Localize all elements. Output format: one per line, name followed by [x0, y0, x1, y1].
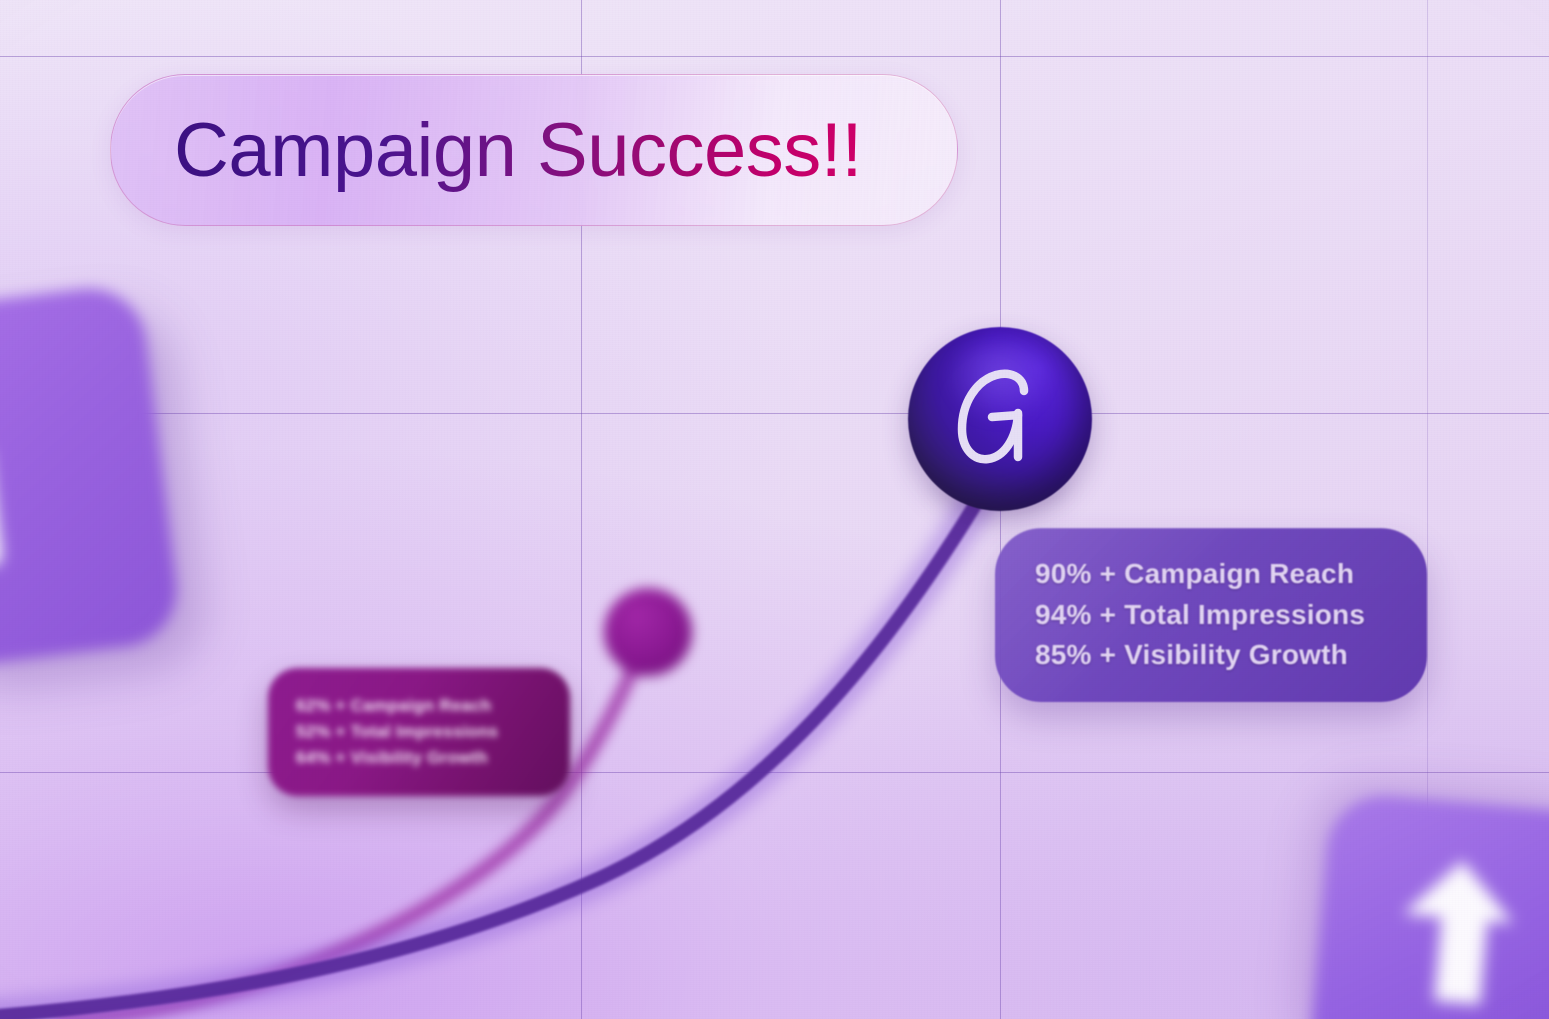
- g-letter-icon: [934, 353, 1066, 485]
- grid-line-horizontal-bottom: [0, 772, 1549, 773]
- grid-line-horizontal-middle: [0, 413, 1549, 414]
- secondary-stat-line-1: 62% + Campaign Reach: [296, 693, 570, 719]
- bar-chart-icon-bar-2: [0, 444, 4, 568]
- primary-stat-line-1: 90% + Campaign Reach: [1035, 554, 1427, 595]
- primary-stat-line-2: 94% + Total Impressions: [1035, 595, 1427, 636]
- secondary-stat-line-2: 52% + Total Impressions: [296, 719, 570, 745]
- g-logo-sphere[interactable]: [908, 327, 1092, 511]
- data-point-marker: [604, 588, 692, 676]
- page-title: Campaign Success!!: [174, 107, 862, 194]
- bar-chart-icon-card: [0, 282, 183, 670]
- trending-up-arrow-icon-card: [1307, 791, 1549, 1019]
- secondary-stat-line-3: 64% + Visibility Growth: [296, 745, 570, 771]
- secondary-stat-card: 62% + Campaign Reach 52% + Total Impress…: [268, 668, 570, 796]
- grid-line-horizontal-top: [0, 56, 1549, 57]
- title-pill: Campaign Success!!: [110, 74, 958, 226]
- primary-stat-line-3: 85% + Visibility Growth: [1035, 635, 1427, 676]
- trending-up-arrow-icon: [1388, 847, 1529, 1008]
- primary-stat-card: 90% + Campaign Reach 94% + Total Impress…: [995, 528, 1427, 702]
- campaign-success-visual: Campaign Success!! 90% + Campaign Reach …: [0, 0, 1549, 1019]
